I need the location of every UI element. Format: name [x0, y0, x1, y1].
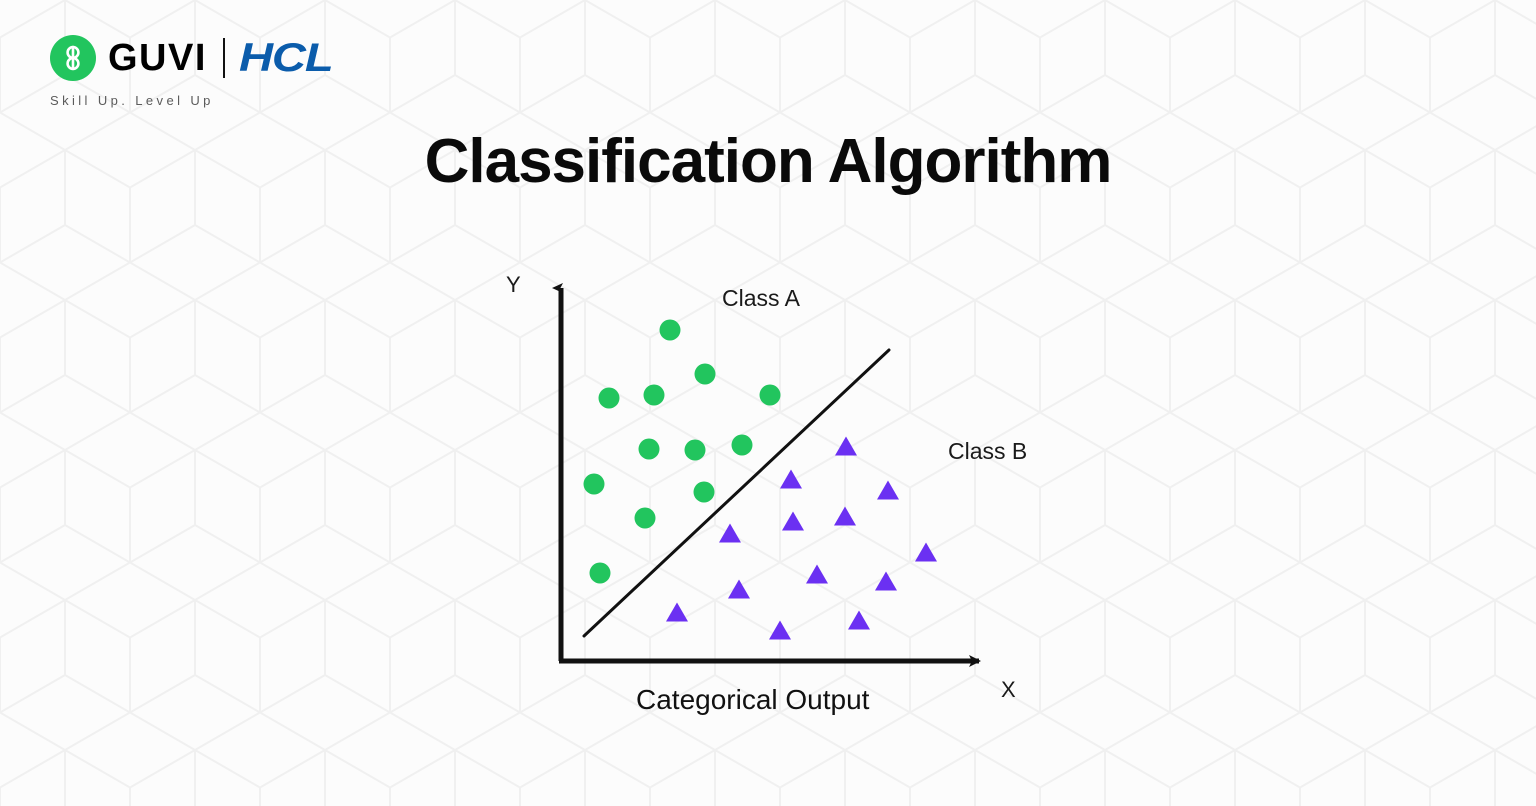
class-a-point: [599, 388, 620, 409]
class-b-point: [806, 565, 828, 584]
brand-logo-bar: GUVI HCL Skill Up. Level Up: [50, 30, 318, 108]
class-a-point: [760, 385, 781, 406]
class-b-point: [780, 470, 802, 489]
class-b-point: [875, 572, 897, 591]
logo-row: GUVI HCL: [50, 30, 318, 86]
classification-chart: Y X Class A Class B Categorical Output: [0, 0, 1536, 806]
logo-divider: [223, 38, 225, 78]
class-a-point: [590, 563, 611, 584]
chart-axes: [559, 288, 979, 661]
class-a-point: [732, 435, 753, 456]
hcl-wordmark: HCL: [239, 38, 332, 78]
class-a-point: [635, 508, 656, 529]
class-b-point: [666, 603, 688, 622]
class-b-point: [915, 543, 937, 562]
y-axis-label: Y: [506, 272, 521, 298]
class-b-point: [834, 507, 856, 526]
class-b-point: [848, 611, 870, 630]
guvi-logo-icon: [50, 35, 96, 81]
class-a-point: [694, 482, 715, 503]
class-a-point: [584, 474, 605, 495]
class-b-point: [719, 524, 741, 543]
guvi-wordmark: GUVI: [108, 39, 207, 77]
chart-markers: [584, 320, 938, 640]
class-b-point: [769, 621, 791, 640]
x-axis-label: X: [1001, 677, 1016, 703]
x-axis-caption: Categorical Output: [636, 684, 869, 716]
class-b-point: [728, 580, 750, 599]
class-b-point: [877, 481, 899, 500]
class-b-annotation: Class B: [948, 438, 1027, 465]
class-a-point: [685, 440, 706, 461]
class-b-point: [782, 512, 804, 531]
class-a-point: [695, 364, 716, 385]
class-a-point: [660, 320, 681, 341]
class-a-point: [639, 439, 660, 460]
class-b-point: [835, 437, 857, 456]
page-title: Classification Algorithm: [0, 126, 1536, 197]
slide-root: GUVI HCL Skill Up. Level Up Classificati…: [0, 0, 1536, 806]
class-a-annotation: Class A: [722, 285, 800, 312]
class-a-point: [644, 385, 665, 406]
guvi-tagline: Skill Up. Level Up: [50, 93, 318, 108]
